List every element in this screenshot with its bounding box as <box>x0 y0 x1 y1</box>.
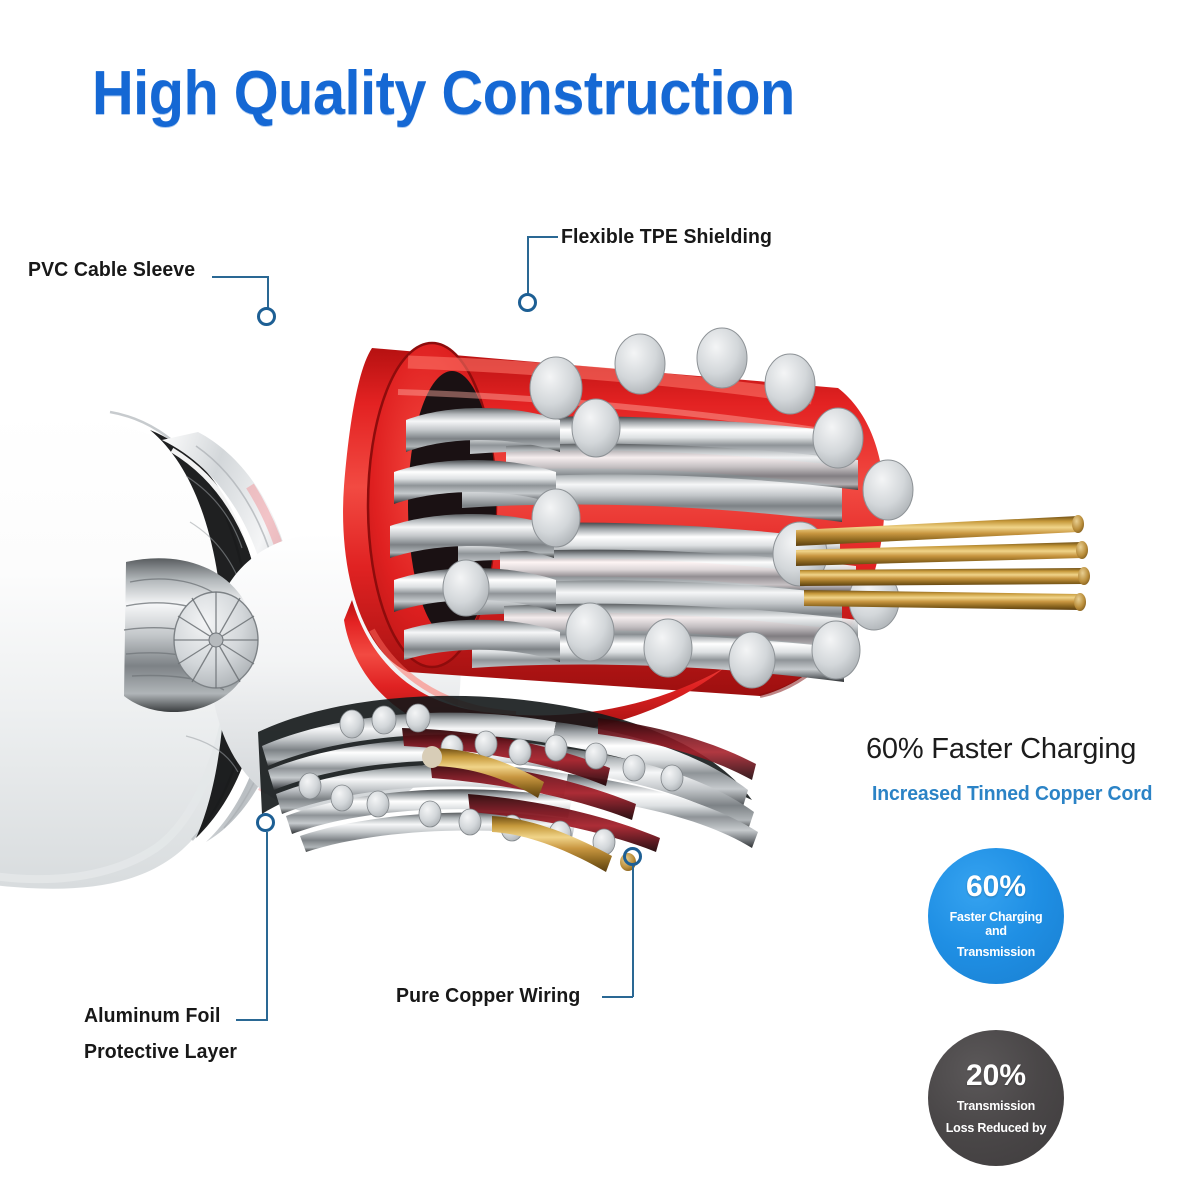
infographic-page: High Quality Construction <box>0 0 1200 1200</box>
page-title: High Quality Construction <box>92 58 795 129</box>
transmission-loss-badge: 20% Transmission Loss Reduced by <box>928 1030 1064 1166</box>
copper-wires-upper <box>796 515 1090 611</box>
badge-line2-loss-reduced: Loss Reduced by <box>946 1122 1047 1136</box>
leader-line-alufoil-h <box>236 1019 268 1021</box>
callout-dot-flexible-tpe-shielding <box>518 293 537 312</box>
callout-dot-pvc-cable-sleeve <box>257 307 276 326</box>
leader-line-copper-h <box>602 996 633 998</box>
leader-line-tpe-v <box>527 236 529 294</box>
leader-line-copper-v <box>632 866 634 997</box>
leader-line-pvc-v <box>267 276 269 308</box>
badge-percent-20: 20% <box>966 1061 1026 1091</box>
callout-label-flexible-tpe-shielding: Flexible TPE Shielding <box>561 225 772 249</box>
badge-percent-60: 60% <box>966 872 1026 902</box>
badge-line2-transmission: Transmission <box>957 946 1035 960</box>
leader-line-alufoil-v <box>266 832 268 1020</box>
callout-label-aluminum-foil: Aluminum Foil <box>84 1004 220 1028</box>
callout-label-pure-copper-wiring: Pure Copper Wiring <box>396 984 580 1008</box>
feature-subline: Increased Tinned Copper Cord <box>872 783 1152 806</box>
faster-charging-badge: 60% Faster Charging and Transmission <box>928 848 1064 984</box>
cable-cutaway-illustration <box>0 300 1110 920</box>
callout-label-protective-layer: Protective Layer <box>84 1040 237 1064</box>
tinned-copper-wiring-bundle <box>258 696 758 872</box>
badge-line1-faster-charging: Faster Charging and <box>938 911 1054 939</box>
callout-dot-aluminum-foil <box>256 813 275 832</box>
callout-dot-pure-copper-wiring <box>623 847 642 866</box>
feature-headline: 60% Faster Charging <box>866 733 1136 766</box>
badge-line1-transmission: Transmission <box>957 1100 1035 1114</box>
callout-label-pvc-cable-sleeve: PVC Cable Sleeve <box>28 258 195 282</box>
leader-line-pvc-h <box>212 276 269 278</box>
leader-line-tpe-h <box>528 236 558 238</box>
